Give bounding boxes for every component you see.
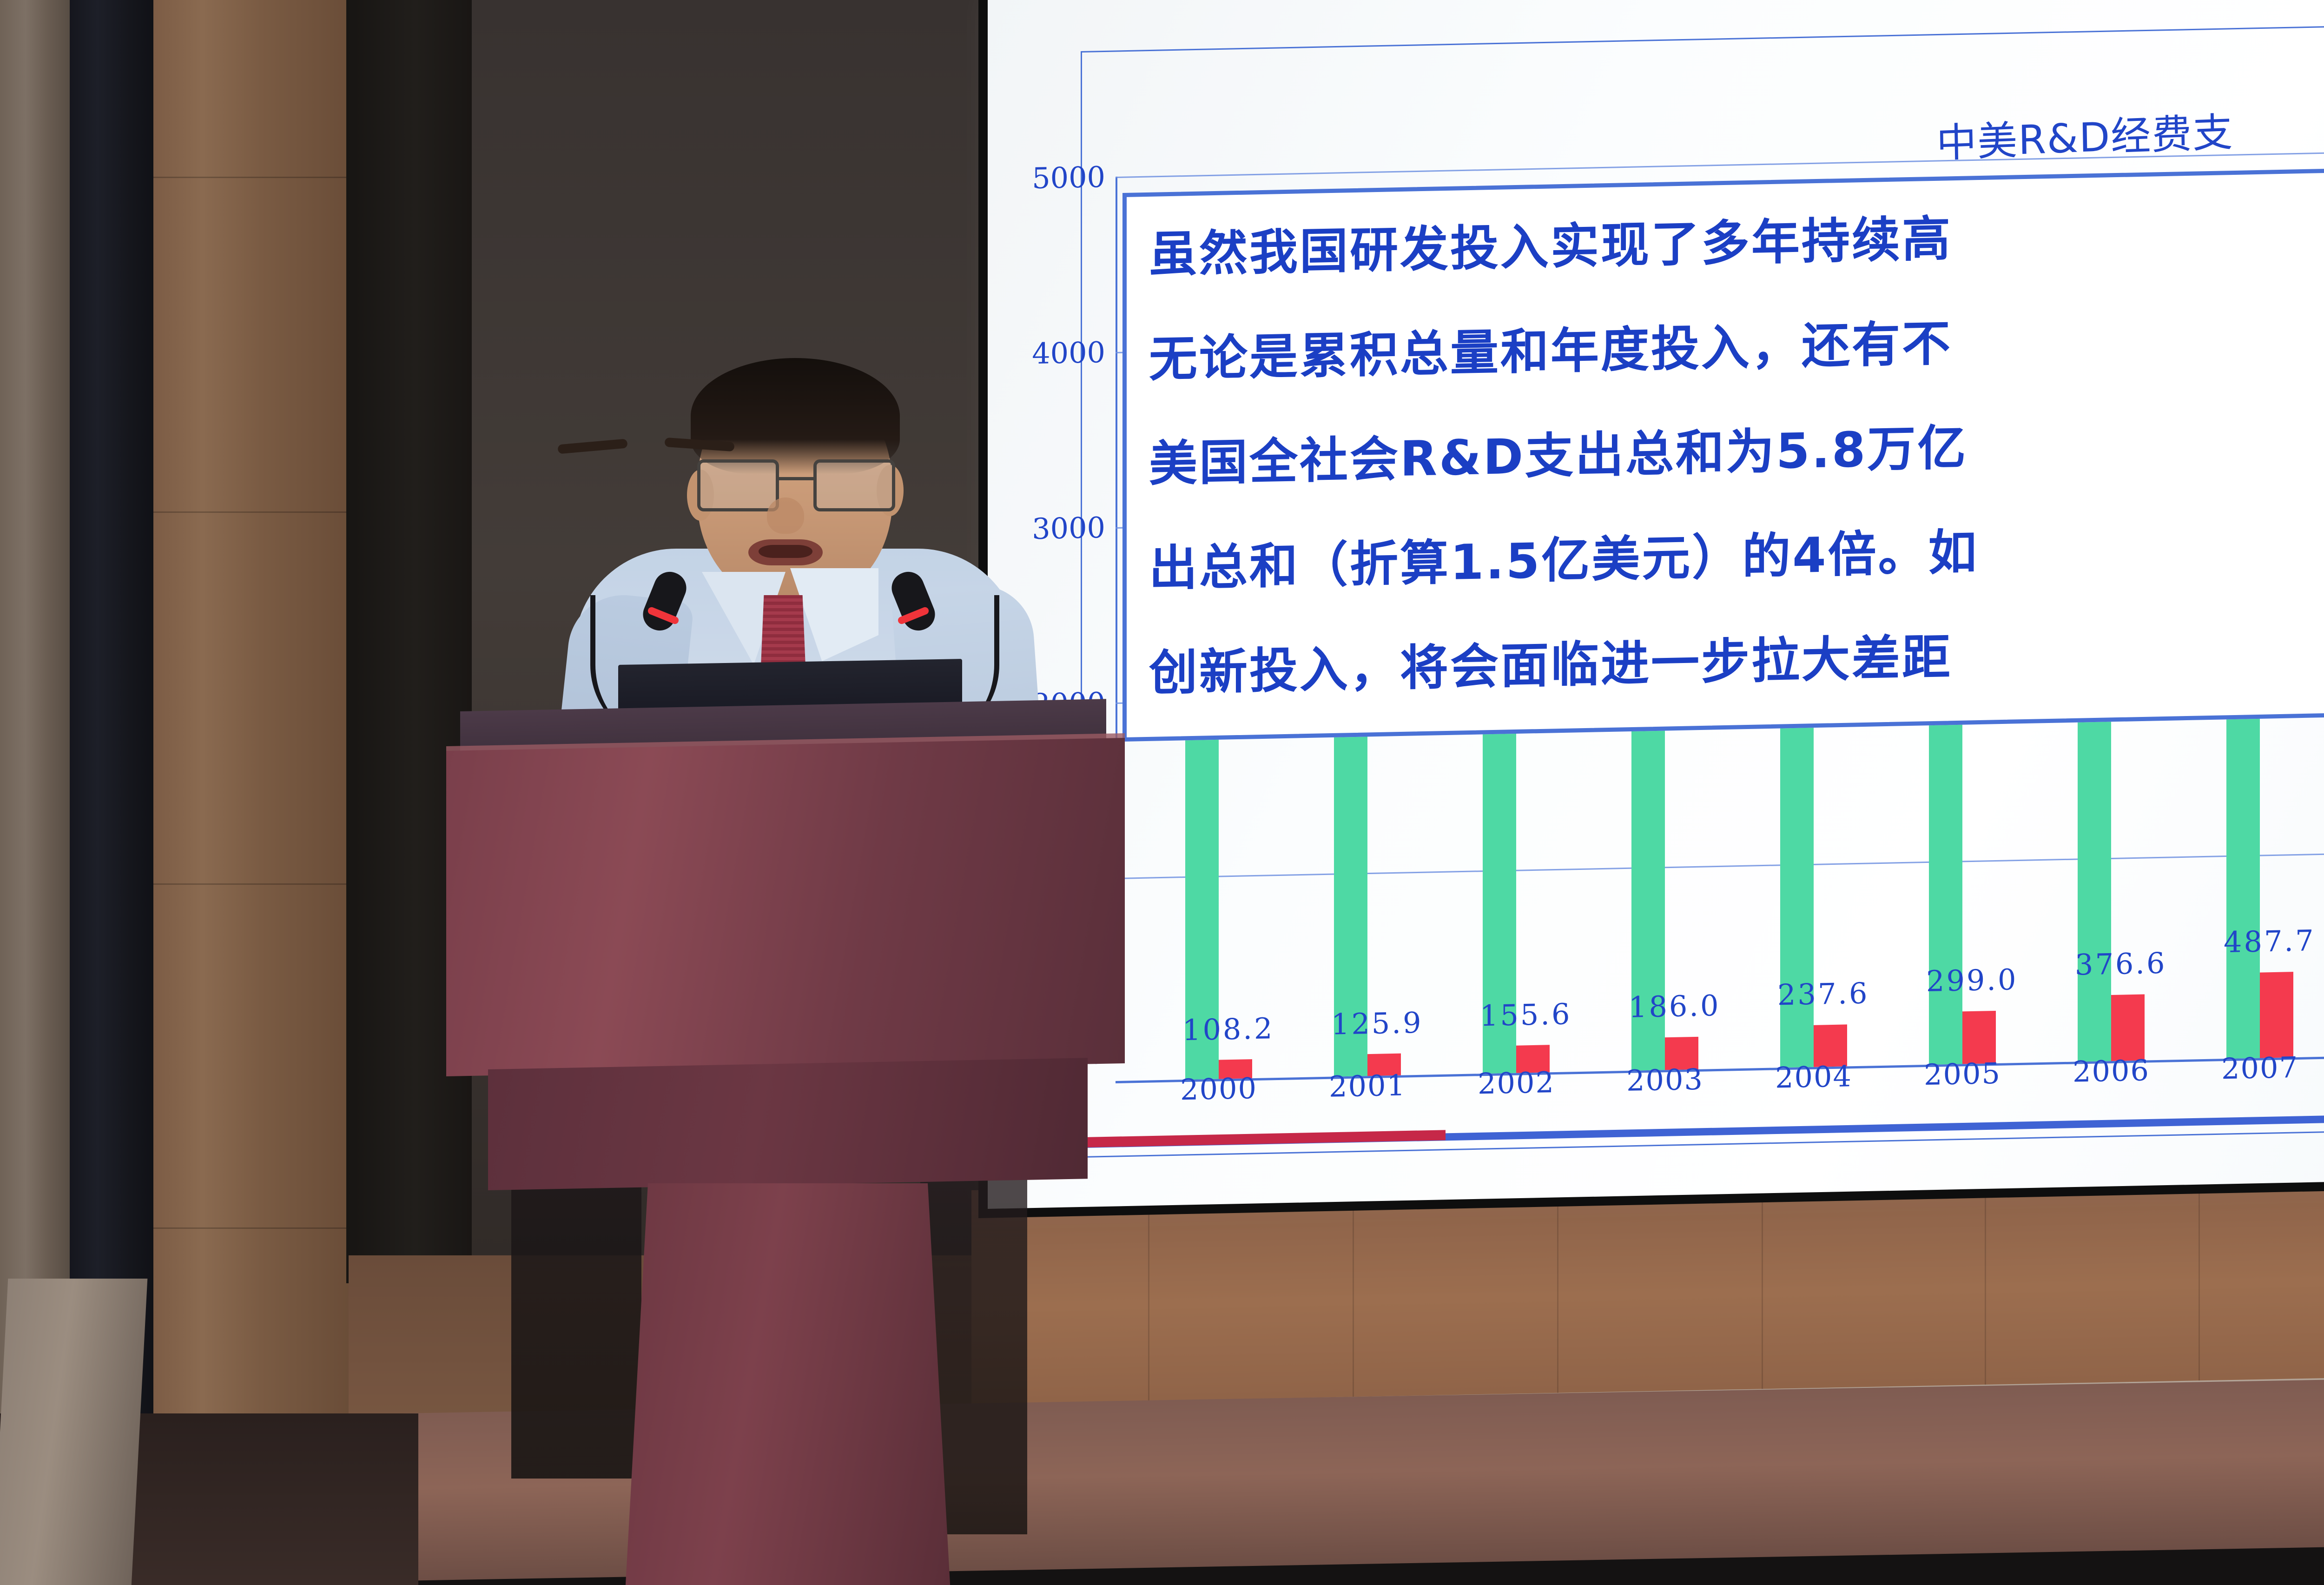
x-tick-label-2007: 2007	[2221, 1050, 2298, 1086]
overlay-line-3: 美国全社会R&D支出总和为5.8万亿	[1149, 408, 1967, 494]
x-tick-label-2001: 2001	[1329, 1068, 1406, 1103]
podium-base-shelf	[488, 1058, 1088, 1190]
overlay-line-2: 无论是累积总量和年度投入，还有不	[1149, 304, 1952, 390]
eyeglass-bridge	[779, 477, 815, 480]
slide-text-overlay: 虽然我国研发投入实现了多年持续高 无论是累积总量和年度投入，还有不 美国全社会R…	[1122, 167, 2324, 742]
podium-pedestal	[625, 1183, 951, 1585]
x-tick-label-2005: 2005	[1924, 1056, 2001, 1092]
speaker-nose	[767, 497, 804, 534]
bar-label-2001: 125.9	[1331, 1006, 1423, 1041]
dark-pillar	[346, 0, 472, 1283]
x-tick-label-2000: 2000	[1180, 1071, 1257, 1107]
x-tick-label-2006: 2006	[2073, 1053, 2150, 1088]
overlay-line-5: 创新投入，将会面临进一步拉大差距	[1149, 617, 1952, 704]
bar-label-2000: 108.2	[1182, 1011, 1274, 1047]
bar-label-2006: 376.6	[2075, 946, 2167, 982]
wood-wall-panel-left	[153, 0, 349, 1585]
x-tick-label-2002: 2002	[1478, 1065, 1555, 1101]
speaker-mouth-inner	[759, 545, 812, 558]
speaker-hair	[691, 358, 900, 474]
x-tick-label-2004: 2004	[1775, 1059, 1852, 1094]
x-tick-label-2003: 2003	[1626, 1062, 1703, 1098]
overlay-line-1: 虽然我国研发投入实现了多年持续高	[1149, 199, 1952, 285]
photo-scene: 中美R&D经费支 5000 4000 3000 2000 1000 0 108.…	[0, 0, 2324, 1585]
bar-label-2007: 487.7	[2224, 923, 2316, 959]
bar-label-2003: 186.0	[1629, 988, 1721, 1024]
eyeglass-lens-right	[813, 459, 895, 511]
podium-front-panel	[446, 738, 1125, 1076]
overlay-line-4: 出总和（折算1.5亿美元）的4倍。如	[1149, 512, 1979, 599]
bar-label-2005: 299.0	[1926, 962, 2018, 998]
bar-label-2002: 155.6	[1480, 997, 1572, 1033]
bar-cn-2006	[2111, 995, 2145, 1061]
y-tick-label-5000: 5000	[1032, 160, 1105, 195]
speaker-eyebrow-left	[557, 439, 627, 454]
eyeglass-lens-left	[697, 459, 779, 511]
beige-curtain-lower	[0, 1279, 147, 1585]
bar-cn-2007	[2260, 972, 2293, 1058]
bar-label-2004: 237.6	[1777, 976, 1869, 1012]
